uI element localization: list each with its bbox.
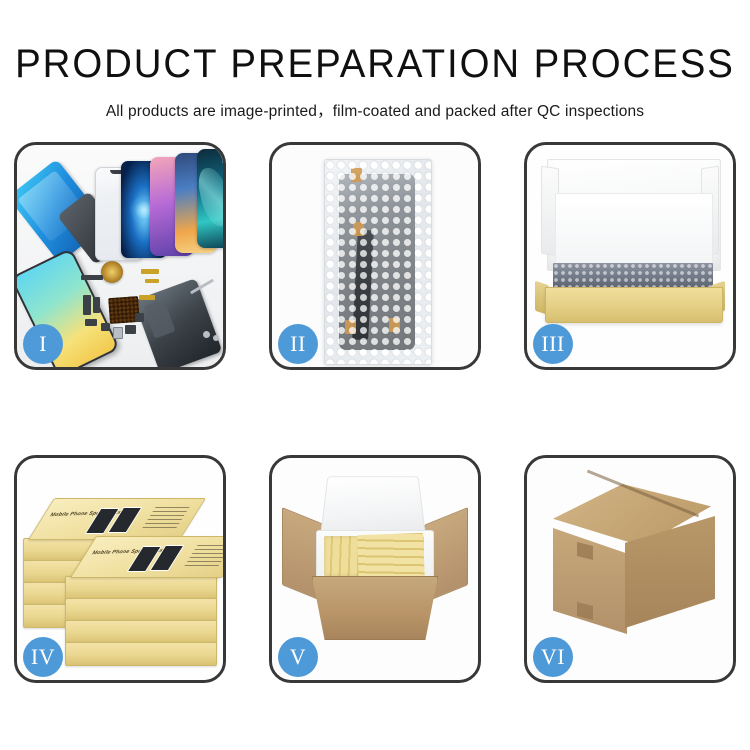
- foam-sheet-icon: [555, 193, 713, 271]
- process-step-panel-5[interactable]: V: [269, 455, 481, 683]
- page-root: PRODUCT PREPARATION PROCESS All products…: [0, 0, 750, 750]
- part-chip-icon: [113, 327, 123, 339]
- part-chip-icon: [101, 323, 110, 331]
- part-chip-icon: [85, 319, 97, 326]
- part-chip-icon: [145, 279, 159, 283]
- part-chip-icon: [135, 313, 144, 322]
- page-title: PRODUCT PREPARATION PROCESS: [15, 44, 735, 84]
- bubble-wrap-package-icon: [324, 159, 432, 365]
- tape-icon: [351, 168, 362, 182]
- retail-box-lid: Mobile Phone Spare Parts: [70, 536, 223, 578]
- kraft-box-front-icon: [545, 287, 723, 323]
- process-step-panel-1[interactable]: I: [14, 142, 226, 370]
- retail-box-side: [65, 598, 217, 622]
- retail-box-stack-icon: Mobile Phone Spare Parts Mobile Phone Sp…: [23, 480, 223, 662]
- process-step-grid: I II: [14, 142, 736, 682]
- tape-icon: [353, 222, 364, 236]
- part-chip-icon: [125, 325, 136, 334]
- step-badge-3: III: [533, 324, 573, 364]
- speaker-coil-icon: [101, 261, 123, 283]
- retail-box-side: [65, 620, 217, 644]
- part-chip-icon: [83, 295, 91, 315]
- step-badge-1: I: [23, 324, 63, 364]
- step-badge-6: VI: [533, 637, 573, 677]
- teal-gradient-phone-icon: [197, 149, 223, 248]
- box-spec-text-lines: [141, 507, 190, 531]
- page-subtitle: All products are image-printed，film-coat…: [0, 99, 750, 121]
- step-badge-2: II: [278, 324, 318, 364]
- page-header: PRODUCT PREPARATION PROCESS All products…: [0, 0, 750, 121]
- part-chip-icon: [139, 295, 155, 300]
- part-chip-icon: [141, 269, 159, 274]
- process-step-panel-2[interactable]: II: [269, 142, 481, 370]
- process-step-panel-3[interactable]: III: [524, 142, 736, 370]
- retail-box-side: [65, 576, 217, 600]
- retail-box-side: [65, 642, 217, 666]
- step-badge-4: IV: [23, 637, 63, 677]
- yellow-boxes-row-icon: [357, 533, 424, 579]
- screw-icon: [203, 331, 210, 338]
- tape-icon: [389, 318, 400, 332]
- step-badge-5: V: [278, 637, 318, 677]
- foam-lid-open-icon: [320, 476, 426, 536]
- process-step-panel-6[interactable]: VI: [524, 455, 736, 683]
- part-chip-icon: [93, 297, 100, 313]
- process-step-panel-4[interactable]: Mobile Phone Spare Parts Mobile Phone Sp…: [14, 455, 226, 683]
- box-spec-text-lines: [183, 545, 223, 569]
- screw-icon: [213, 335, 219, 341]
- tape-icon: [345, 320, 356, 334]
- part-chip-icon: [81, 275, 103, 280]
- retail-box-lid: Mobile Phone Spare Parts: [28, 498, 206, 540]
- carton-body-icon: [312, 576, 438, 640]
